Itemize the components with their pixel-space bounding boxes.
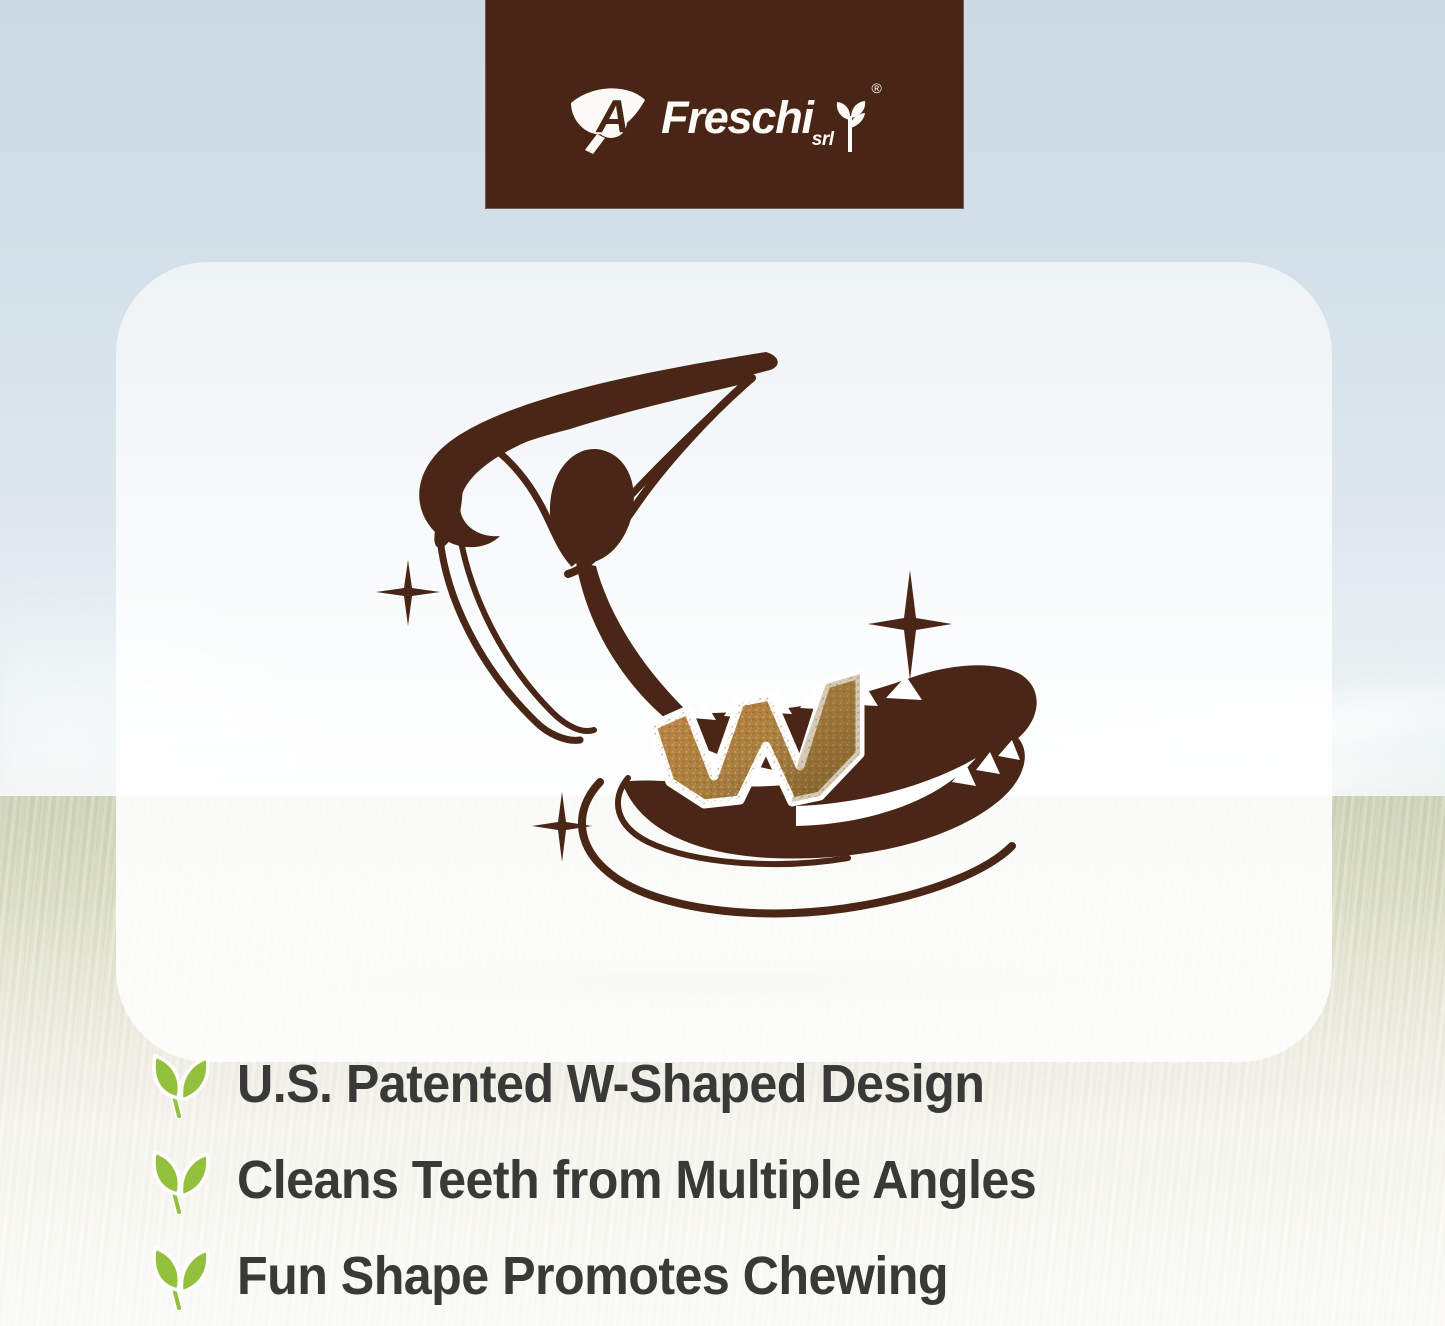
- brand-lockup: A Freschi srl ®: [567, 82, 882, 154]
- svg-text:A: A: [596, 90, 630, 142]
- leaf-sprout-icon: [145, 1048, 217, 1120]
- list-item: U.S. Patented W-Shaped Design: [0, 1036, 1445, 1132]
- product-feature-banner: A Freschi srl ®: [0, 0, 1445, 1326]
- leaf-sprout-icon: [145, 1144, 217, 1216]
- feature-label: Fun Shape Promotes Chewing: [237, 1245, 948, 1307]
- sparkle-icon: [376, 560, 440, 626]
- leaf-sprout-icon: [145, 1240, 217, 1312]
- leaf-magnifier-icon: A: [567, 82, 659, 154]
- sparkle-icon: [868, 570, 952, 680]
- dog-head-line-art: [419, 352, 1036, 913]
- feature-list: U.S. Patented W-Shaped Design Cleans Tee…: [0, 1036, 1445, 1324]
- hero-illustration: [300, 330, 1060, 930]
- brand-name: Freschi: [661, 95, 813, 140]
- list-item: Cleans Teeth from Multiple Angles: [0, 1132, 1445, 1228]
- brand-logo-bar: A Freschi srl ®: [485, 0, 964, 209]
- w-shaped-treat: [652, 674, 860, 804]
- feature-label: Cleans Teeth from Multiple Angles: [237, 1149, 1036, 1211]
- registered-mark: ®: [872, 80, 882, 96]
- feature-label: U.S. Patented W-Shaped Design: [237, 1053, 984, 1115]
- sprout-icon: [834, 94, 868, 152]
- list-item: Fun Shape Promotes Chewing: [0, 1228, 1445, 1324]
- brand-suffix: srl: [812, 129, 834, 151]
